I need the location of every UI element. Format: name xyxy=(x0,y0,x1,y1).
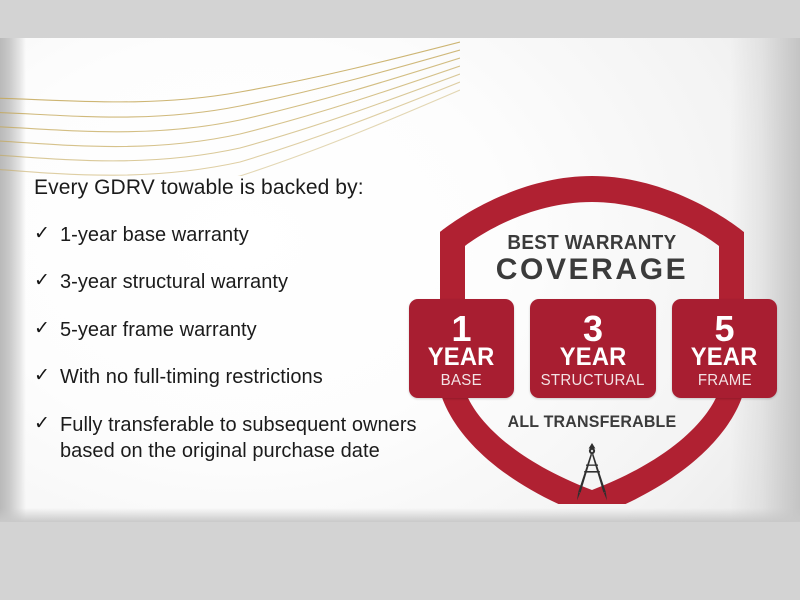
badge-title-line1: BEST WARRANTY xyxy=(408,231,776,255)
drafting-compass-icon xyxy=(570,442,614,502)
letterbox-frame: Every GDRV towable is backed by: ✓ 1-yea… xyxy=(0,0,800,600)
warranty-box-period: YEAR xyxy=(428,345,495,371)
check-icon: ✓ xyxy=(34,317,60,341)
warranty-box-frame[interactable]: 5 YEAR FRAME xyxy=(672,299,777,398)
warranty-box-base[interactable]: 1 YEAR BASE xyxy=(409,299,514,398)
check-icon: ✓ xyxy=(34,222,60,246)
warranty-box-kind: FRAME xyxy=(697,371,751,390)
list-item-label: 3-year structural warranty xyxy=(60,269,288,295)
check-icon: ✓ xyxy=(34,269,60,293)
warranty-box-structural[interactable]: 3 YEAR STRUCTURAL xyxy=(530,299,656,398)
list-item: ✓ 1-year base warranty xyxy=(34,222,434,248)
page-title: Every GDRV towable is backed by: xyxy=(34,176,434,200)
list-item-label: With no full-timing restrictions xyxy=(60,364,323,390)
warranty-box-kind: STRUCTURAL xyxy=(541,371,645,390)
badge-footer-label: ALL TRANSFERABLE xyxy=(404,412,780,432)
check-icon: ✓ xyxy=(34,364,60,388)
list-item-label: 1-year base warranty xyxy=(60,222,249,248)
warranty-badge: BEST WARRANTY COVERAGE 1 YEAR BASE 3 YEA… xyxy=(392,154,792,504)
warranty-copy: Every GDRV towable is backed by: ✓ 1-yea… xyxy=(34,176,434,485)
warranty-box-period: YEAR xyxy=(560,345,627,371)
list-item: ✓ Fully transferable to subsequent owner… xyxy=(34,412,434,465)
warranty-slide: Every GDRV towable is backed by: ✓ 1-yea… xyxy=(0,38,800,522)
list-item: ✓ 3-year structural warranty xyxy=(34,269,434,295)
warranty-box-number: 5 xyxy=(714,312,734,345)
list-item-label: Fully transferable to subsequent owners … xyxy=(60,412,434,465)
slide-bottom-shadow xyxy=(0,508,800,522)
warranty-box-kind: BASE xyxy=(441,371,482,390)
gold-swoosh-decoration xyxy=(0,38,460,176)
list-item-label: 5-year frame warranty xyxy=(60,317,257,343)
badge-title-line2: COVERAGE xyxy=(392,253,792,287)
warranty-box-period: YEAR xyxy=(691,345,758,371)
check-icon: ✓ xyxy=(34,412,60,436)
warranty-box-number: 3 xyxy=(583,312,603,345)
list-item: ✓ With no full-timing restrictions xyxy=(34,364,434,390)
slide-left-shadow xyxy=(0,38,26,522)
warranty-term-boxes: 1 YEAR BASE 3 YEAR STRUCTURAL 5 YEAR FRA… xyxy=(409,299,777,398)
warranty-box-number: 1 xyxy=(451,312,471,345)
list-item: ✓ 5-year frame warranty xyxy=(34,317,434,343)
